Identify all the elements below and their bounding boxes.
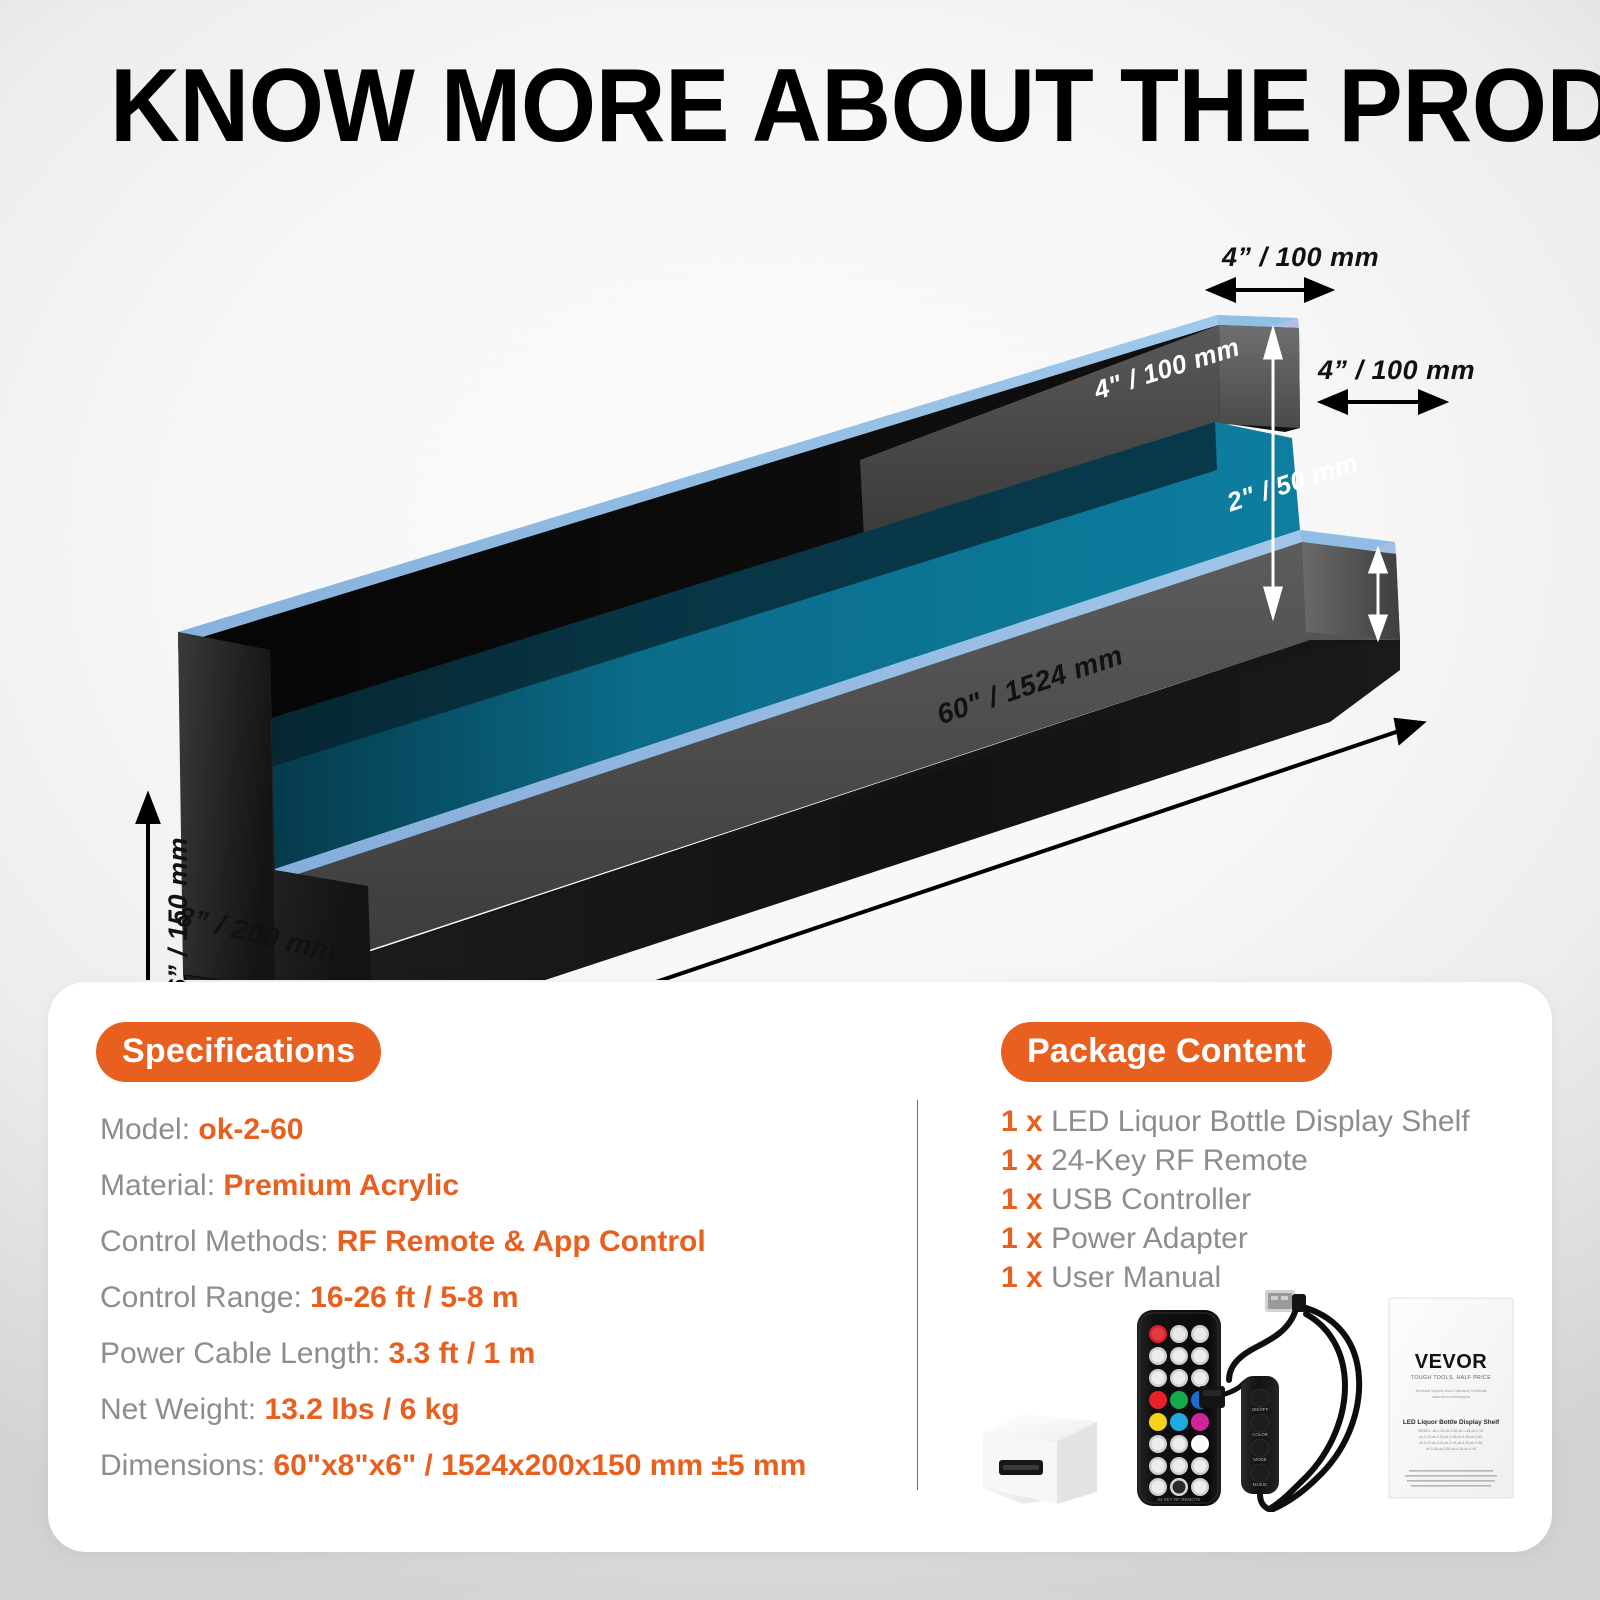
svg-text:VEVOR: VEVOR [1415,1351,1488,1373]
spec-label: Model: [100,1113,190,1146]
svg-text:MODE: MODE [1253,1457,1266,1462]
list-item: 1 x USB Controller [1001,1180,1581,1219]
spec-label: Material: [100,1169,215,1202]
spec-value: RF Remote & App Control [337,1225,706,1258]
spec-value: ok-2-60 [198,1113,303,1146]
spec-label: Control Range: [100,1281,302,1314]
product-diagram: 4” / 100 mm 4" / 100 mm 4” / 100 mm 2" /… [0,170,1600,980]
spec-row: Power Cable Length: 3.3 ft / 1 m [100,1326,900,1382]
package-item-name: Power Adapter [1051,1222,1248,1255]
package-qty: 1 x [1001,1183,1043,1216]
svg-text:LED Liquor Bottle Display Shel: LED Liquor Bottle Display Shelf [1403,1419,1500,1426]
accessory-images: 24 KEY RF REMOTE [965,1282,1535,1512]
shelf-illustration [0,170,1600,980]
package-qty: 1 x [1001,1222,1043,1255]
spec-value: Premium Acrylic [223,1169,459,1202]
spec-row: Control Methods: RF Remote & App Control [100,1214,900,1270]
list-item: 1 x 24-Key RF Remote [1001,1141,1581,1180]
svg-text:COLOR: COLOR [1252,1432,1268,1437]
package-content-pill-label: Package Content [1001,1022,1332,1082]
svg-text:ok-2-24,ok-2-30,ok-2-36,ok-2-4: ok-2-24,ok-2-30,ok-2-36,ok-2-48,ok-2-60, [1419,1435,1483,1439]
list-item: 1 x LED Liquor Bottle Display Shelf [1001,1102,1581,1141]
package-item-name: 24-Key RF Remote [1051,1144,1308,1177]
package-item-name: LED Liquor Bottle Display Shelf [1051,1105,1470,1138]
spec-label: Power Cable Length: [100,1337,380,1370]
svg-text:24 KEY RF REMOTE: 24 KEY RF REMOTE [1158,1497,1201,1502]
svg-text:MUSIC: MUSIC [1253,1482,1267,1487]
spec-value: 3.3 ft / 1 m [389,1337,536,1370]
spec-row: Net Weight: 13.2 lbs / 6 kg [100,1382,900,1438]
list-item: 1 x Power Adapter [1001,1219,1581,1258]
spec-value: 16-26 ft / 5-8 m [310,1281,518,1314]
spec-label: Net Weight: [100,1393,256,1426]
user-manual-image: VEVOR TOUGH TOOLS, HALF PRICE Technical … [1389,1298,1513,1498]
spec-row: Material: Premium Acrylic [100,1158,900,1214]
spec-row: Control Range: 16-26 ft / 5-8 m [100,1270,900,1326]
dim-label-top-depth: 4” / 100 mm [1222,242,1379,273]
page-title: KNOW MORE ABOUT THE PRODUCT [110,54,1393,158]
spec-row: Model: ok-2-60 [100,1102,900,1158]
spec-value: 60"x8"x6" / 1524x200x150 mm ±5 mm [273,1449,806,1482]
spec-label: Dimensions: [100,1449,265,1482]
usb-controller-image: ON/OFF COLOR MODE MUSIC [1199,1290,1359,1510]
package-qty: 1 x [1001,1144,1043,1177]
svg-text:ok-3-48,ok-3-60,ok-4-16,ok-4-4: ok-3-48,ok-3-60,ok-4-16,ok-4-48 [1426,1447,1476,1451]
info-card: Specifications Model: ok-2-60 Material: … [48,982,1552,1552]
svg-text:MODEL: ok-1-24,ok-1-36,ok-1-48: MODEL: ok-1-24,ok-1-36,ok-1-48,ok-2-16, [1418,1429,1484,1433]
spec-row: Dimensions: 60"x8"x6" / 1524x200x150 mm … [100,1438,900,1494]
card-divider [917,1100,918,1490]
svg-text:ON/OFF: ON/OFF [1252,1407,1269,1412]
specifications-list: Model: ok-2-60 Material: Premium Acrylic… [100,1102,900,1494]
package-column: Package Content 1 x LED Liquor Bottle Di… [965,982,1552,1552]
spec-label: Control Methods: [100,1225,328,1258]
svg-text:www.vevor.com/support: www.vevor.com/support [1432,1395,1470,1399]
svg-text:ok-3-12,ok-3-16,ok-3-24,ok-3-3: ok-3-12,ok-3-16,ok-3-24,ok-3-30,ok-3-36, [1419,1441,1483,1445]
power-adapter-image [983,1414,1097,1504]
package-content-heading: Package Content [1001,1022,1332,1082]
specifications-heading: Specifications [96,1022,381,1082]
svg-text:Technical Support and E-Warran: Technical Support and E-Warranty Certifi… [1415,1389,1487,1393]
dim-label-right-depth: 4” / 100 mm [1318,355,1475,386]
package-item-name: USB Controller [1051,1183,1251,1216]
spec-value: 13.2 lbs / 6 kg [265,1393,460,1426]
specifications-pill-label: Specifications [96,1022,381,1082]
svg-text:TOUGH TOOLS, HALF PRICE: TOUGH TOOLS, HALF PRICE [1411,1375,1491,1381]
package-qty: 1 x [1001,1105,1043,1138]
package-items-list: 1 x LED Liquor Bottle Display Shelf 1 x … [1001,1102,1581,1297]
